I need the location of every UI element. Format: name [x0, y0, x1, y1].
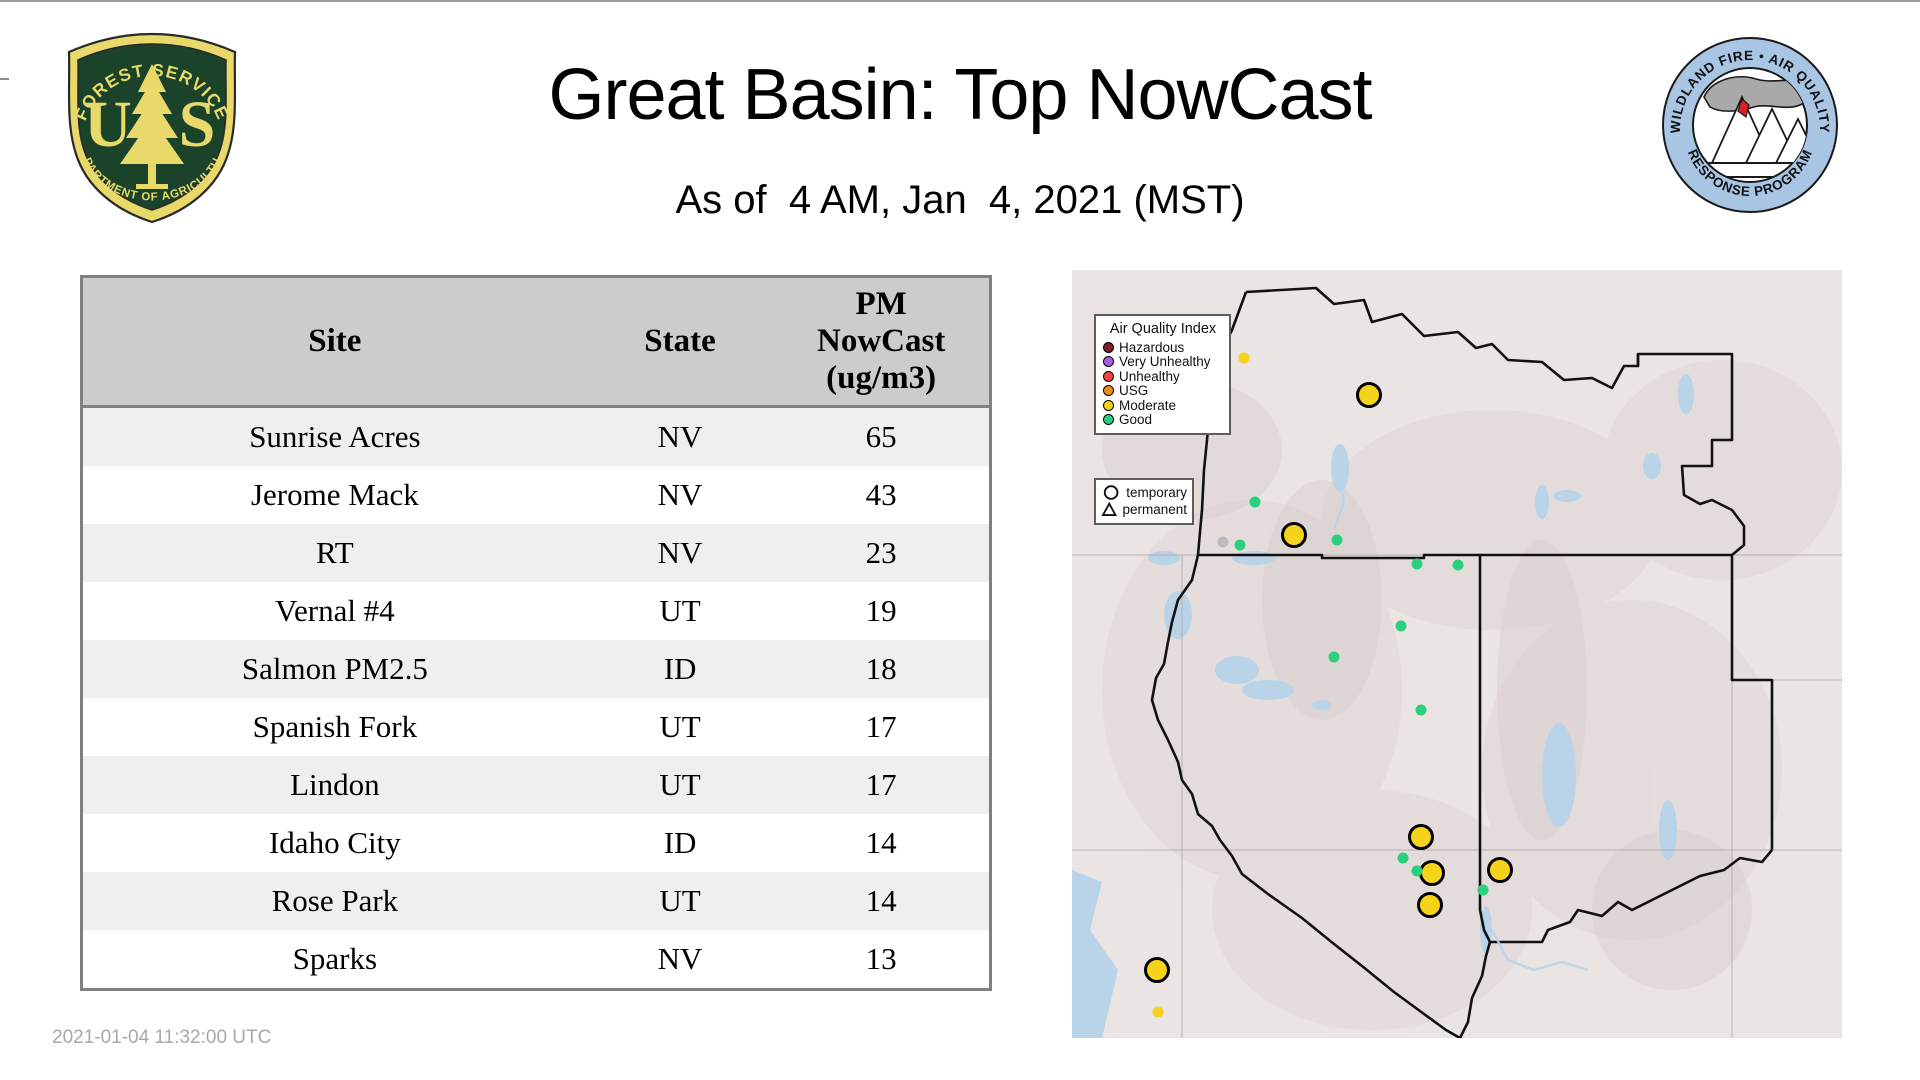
monitor-marker[interactable]	[1356, 382, 1382, 408]
legend-row-permanent: permanent	[1101, 501, 1187, 518]
monitor-marker[interactable]	[1408, 824, 1434, 850]
cell-pm-nowcast: 19	[773, 582, 989, 640]
cell-state: NV	[587, 930, 774, 988]
monitor-marker[interactable]	[1281, 522, 1307, 548]
cell-pm-nowcast: 23	[773, 524, 989, 582]
monitor-marker[interactable]	[1419, 860, 1445, 886]
cell-state: NV	[587, 466, 774, 524]
monitor-marker[interactable]	[1417, 892, 1443, 918]
aqi-legend-label: USG	[1119, 384, 1148, 398]
table-row: Jerome MackNV43	[83, 466, 989, 524]
cell-site: RT	[83, 524, 587, 582]
slide-canvas: U S FOREST SERVICE DEPARTMENT OF AGRICUL…	[0, 0, 1920, 1080]
monitor-marker[interactable]	[1250, 497, 1261, 508]
monitor-marker[interactable]	[1412, 559, 1423, 570]
generated-timestamp: 2021-01-04 11:32:00 UTC	[52, 1027, 271, 1049]
table-row: RTNV23	[83, 524, 989, 582]
monitor-marker[interactable]	[1239, 353, 1250, 364]
aqi-swatch-icon	[1103, 342, 1114, 353]
aqi-legend-row: Hazardous	[1103, 340, 1223, 355]
legend-label-temporary: temporary	[1126, 486, 1187, 500]
legend-row-temporary: temporary	[1101, 484, 1187, 501]
page-subtitle: As of 4 AM, Jan 4, 2021 (MST)	[300, 178, 1620, 223]
monitor-marker[interactable]	[1153, 1007, 1164, 1018]
cell-site: Rose Park	[83, 872, 587, 930]
table-row: Spanish ForkUT17	[83, 698, 989, 756]
table-row: Idaho CityID14	[83, 814, 989, 872]
cell-site: Sparks	[83, 930, 587, 988]
table-row: Vernal #4UT19	[83, 582, 989, 640]
aqi-swatch-icon	[1103, 356, 1114, 367]
aqi-legend-row: Very Unhealthy	[1103, 355, 1223, 370]
table-row: Rose ParkUT14	[83, 872, 989, 930]
aqi-legend-label: Good	[1119, 413, 1152, 427]
cell-pm-nowcast: 13	[773, 930, 989, 988]
forest-service-logo: U S FOREST SERVICE DEPARTMENT OF AGRICUL…	[52, 28, 252, 228]
aqi-legend-title: Air Quality Index	[1103, 321, 1223, 337]
cell-state: ID	[587, 640, 774, 698]
cell-state: ID	[587, 814, 774, 872]
aqi-legend-label: Unhealthy	[1119, 370, 1180, 384]
aqi-legend: Air Quality Index HazardousVery Unhealth…	[1094, 314, 1231, 435]
aqi-swatch-icon	[1103, 400, 1114, 411]
cell-pm-nowcast: 43	[773, 466, 989, 524]
aqi-legend-label: Very Unhealthy	[1119, 355, 1211, 369]
aqi-swatch-icon	[1103, 414, 1114, 425]
cell-site: Salmon PM2.5	[83, 640, 587, 698]
cell-pm-nowcast: 17	[773, 698, 989, 756]
monitor-marker[interactable]	[1218, 537, 1229, 548]
monitor-marker[interactable]	[1453, 560, 1464, 571]
aqi-legend-row: USG	[1103, 384, 1223, 399]
monitor-marker[interactable]	[1487, 857, 1513, 883]
legend-label-permanent: permanent	[1122, 503, 1187, 517]
table-row: Salmon PM2.5ID18	[83, 640, 989, 698]
aqi-legend-label: Moderate	[1119, 399, 1176, 413]
monitor-marker[interactable]	[1332, 535, 1343, 546]
cell-site: Vernal #4	[83, 582, 587, 640]
column-header-site: Site	[83, 278, 587, 406]
cell-pm-nowcast: 14	[773, 814, 989, 872]
monitor-marker[interactable]	[1398, 853, 1409, 864]
cell-state: NV	[587, 406, 774, 466]
cell-site: Spanish Fork	[83, 698, 587, 756]
monitor-marker[interactable]	[1235, 540, 1246, 551]
aqi-legend-row: Good	[1103, 413, 1223, 428]
aqi-swatch-icon	[1103, 385, 1114, 396]
column-header-state: State	[587, 278, 774, 406]
cell-state: UT	[587, 872, 774, 930]
page-title: Great Basin: Top NowCast	[300, 58, 1620, 134]
cell-state: UT	[587, 582, 774, 640]
cell-site: Jerome Mack	[83, 466, 587, 524]
aqi-legend-row: Unhealthy	[1103, 369, 1223, 384]
column-header-pm-nowcast: PM NowCast (ug/m3)	[773, 278, 989, 406]
cell-pm-nowcast: 18	[773, 640, 989, 698]
cell-pm-nowcast: 14	[773, 872, 989, 930]
monitor-marker[interactable]	[1478, 885, 1489, 896]
cell-state: UT	[587, 698, 774, 756]
cell-site: Lindon	[83, 756, 587, 814]
cell-site: Sunrise Acres	[83, 406, 587, 466]
left-edge-tick	[0, 78, 9, 80]
cell-pm-nowcast: 65	[773, 406, 989, 466]
monitor-marker[interactable]	[1412, 866, 1423, 877]
cell-pm-nowcast: 17	[773, 756, 989, 814]
monitor-marker[interactable]	[1329, 652, 1340, 663]
top-nowcast-table: Site State PM NowCast (ug/m3) Sunrise Ac…	[80, 275, 992, 991]
table-header-row: Site State PM NowCast (ug/m3)	[83, 278, 989, 406]
wfaqrp-logo: WILDLAND FIRE • AIR QUALITY RESPONSE PRO…	[1660, 35, 1840, 215]
cell-state: NV	[587, 524, 774, 582]
cell-site: Idaho City	[83, 814, 587, 872]
aqi-legend-label: Hazardous	[1119, 341, 1184, 355]
table-row: LindonUT17	[83, 756, 989, 814]
aqi-swatch-icon	[1103, 371, 1114, 382]
monitor-type-legend: temporary permanent	[1094, 478, 1194, 525]
monitor-marker[interactable]	[1396, 621, 1407, 632]
great-basin-monitor-map[interactable]: Air Quality Index HazardousVery Unhealth…	[1072, 270, 1842, 1038]
monitor-marker[interactable]	[1416, 705, 1427, 716]
table-row: SparksNV13	[83, 930, 989, 988]
top-hairline-divider	[0, 0, 1920, 2]
triangle-icon	[1101, 501, 1117, 518]
monitor-marker[interactable]	[1144, 957, 1170, 983]
circle-icon	[1101, 484, 1121, 501]
table-row: Sunrise AcresNV65	[83, 406, 989, 466]
cell-state: UT	[587, 756, 774, 814]
aqi-legend-row: Moderate	[1103, 398, 1223, 413]
